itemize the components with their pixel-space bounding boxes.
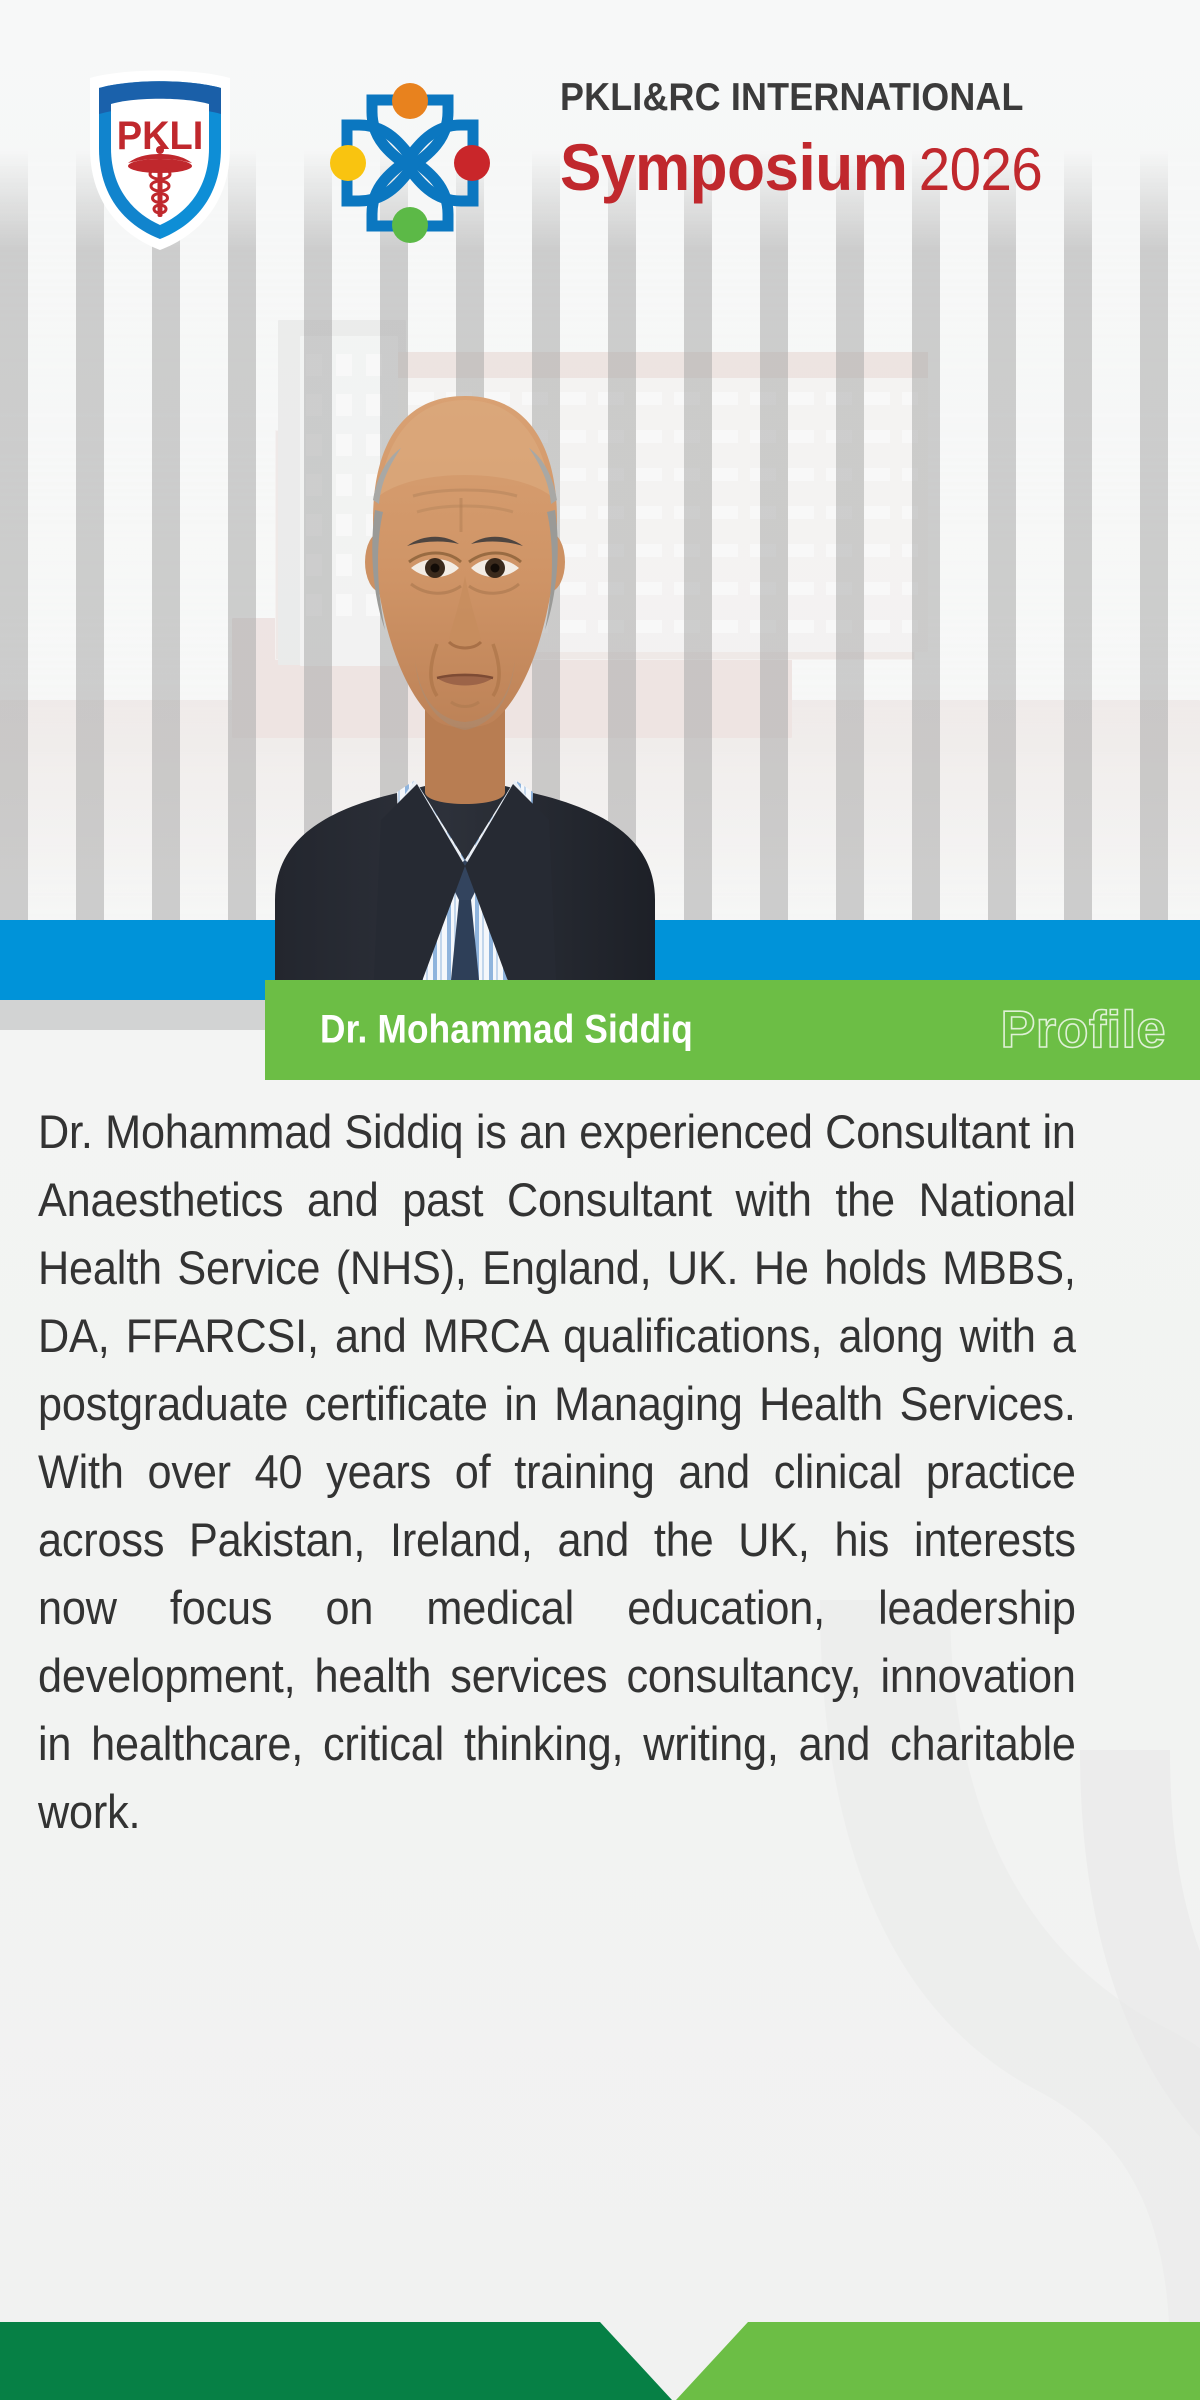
symposium-flower-logo [325, 78, 495, 248]
speaker-portrait-image [265, 300, 665, 1000]
event-title-line-1: PKLI&RC INTERNATIONAL [560, 78, 1130, 119]
flower-dot-right [454, 145, 490, 181]
speaker-name-banner: Dr. Mohammad Siddiq Profile [265, 980, 1200, 1080]
event-title-line-2: Symposium2026 [560, 129, 1143, 205]
flower-dot-top [392, 83, 428, 119]
accent-bar-gray [0, 1000, 265, 1030]
flower-dot-bottom [392, 207, 428, 243]
event-title-block: PKLI&RC INTERNATIONAL Symposium2026 [560, 78, 1180, 205]
speaker-bio-text: Dr. Mohammad Siddiq is an experienced Co… [38, 1098, 1076, 1846]
poster-header: PKLI [0, 0, 1200, 260]
section-label-profile: Profile [1001, 1000, 1166, 1060]
footer-chevron-bars [0, 2300, 1200, 2400]
flower-dot-left [330, 145, 366, 181]
footer-bar-dark-green [0, 2322, 672, 2400]
speaker-profile-poster: PKLI [0, 0, 1200, 2400]
footer-bar-light-green [676, 2322, 1200, 2400]
event-title-year: 2026 [919, 136, 1043, 203]
speaker-name-label: Dr. Mohammad Siddiq [320, 1008, 693, 1053]
event-title-symposium: Symposium [560, 130, 907, 204]
speaker-portrait [265, 300, 665, 1000]
pkli-shield-logo: PKLI [85, 64, 235, 254]
